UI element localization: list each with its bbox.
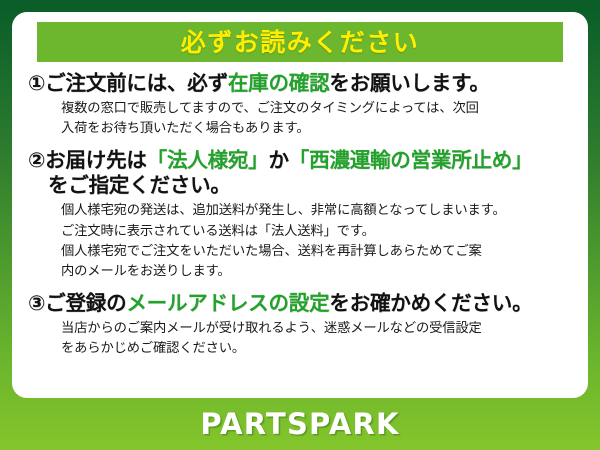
notice-items-list: ①ご注文前には、必ず在庫の確認をお願いします。複数の窓口で販売してますので、ご注… [26,71,574,360]
notice-heading-text: か [268,148,288,172]
notice-item-3: ③ご登録のメールアドレスの設定をお確かめください。当店からのご案内メールが受け取… [28,291,572,359]
notice-item-heading: ③ご登録のメールアドレスの設定をお確かめください。 [28,291,572,316]
notice-body-line: 個人様宅宛の発送は、追加送料が発生し、非常に高額となってしまいます。 [61,201,572,221]
notice-highlight-text: 「西濃運輸の営業所止め」 [289,148,533,172]
notice-body-line: 個人様宅宛でご注文をいただいた場合、送料を再計算しあらためてご案 [61,242,572,262]
notice-body-line: 複数の窓口で販売してますので、ご注文のタイミングによっては、次回 [61,99,572,119]
brand-name: PARTSPARK [200,410,399,439]
notice-item-1: ①ご注文前には、必ず在庫の確認をお願いします。複数の窓口で販売してますので、ご注… [28,71,572,139]
notice-item-marker: ① [28,71,45,95]
notice-item-body: 複数の窓口で販売してますので、ご注文のタイミングによっては、次回入荷をお待ち頂い… [28,99,572,139]
notice-highlight-text: 在庫の確認 [228,71,330,95]
notice-item-body: 個人様宅宛の発送は、追加送料が発生し、非常に高額となってしまいます。ご注文時に表… [28,201,572,282]
notice-body-line: をあらかじめご確認ください。 [61,339,572,359]
notice-highlight-text: 「法人様宛」 [147,148,269,172]
notice-item-marker: ③ [28,291,45,315]
notice-heading-text: ご注文前には、必ず [45,71,228,95]
notice-highlight-text: メールアドレスの設定 [126,291,329,315]
notice-item-heading-line2: をご指定ください。 [28,173,572,198]
footer-brand: PARTSPARK [0,398,600,450]
notice-body-line: 内のメールをお送りします。 [61,262,572,282]
notice-item-2: ②お届け先は「法人様宛」か「西濃運輸の営業所止め」をご指定ください。個人様宅宛の… [28,148,572,282]
notice-item-heading: ②お届け先は「法人様宛」か「西濃運輸の営業所止め」 [28,148,572,173]
notice-item-heading: ①ご注文前には、必ず在庫の確認をお願いします。 [28,71,572,96]
notice-item-marker: ② [28,148,45,172]
notice-card: 必ずお読みください ①ご注文前には、必ず在庫の確認をお願いします。複数の窓口で販… [12,12,588,398]
notice-item-body: 当店からのご案内メールが受け取れるよう、迷惑メールなどの受信設定をあらかじめご確… [28,319,572,359]
notice-body-line: 当店からのご案内メールが受け取れるよう、迷惑メールなどの受信設定 [61,319,572,339]
header-banner: 必ずお読みください [37,22,563,62]
notice-heading-text: お届け先は [45,148,147,172]
page-title: 必ずお読みください [181,30,420,55]
notice-body-line: ご注文時に表示されている送料は「法人送料」です。 [61,222,572,242]
notice-heading-text: をお願いします。 [329,71,489,95]
notice-heading-text: ご登録の [45,291,126,315]
notice-body-line: 入荷をお待ち頂いただく場合もあります。 [61,119,572,139]
notice-heading-text: をお確かめください。 [329,291,532,315]
notice-banner: 必ずお読みください ①ご注文前には、必ず在庫の確認をお願いします。複数の窓口で販… [0,0,600,450]
